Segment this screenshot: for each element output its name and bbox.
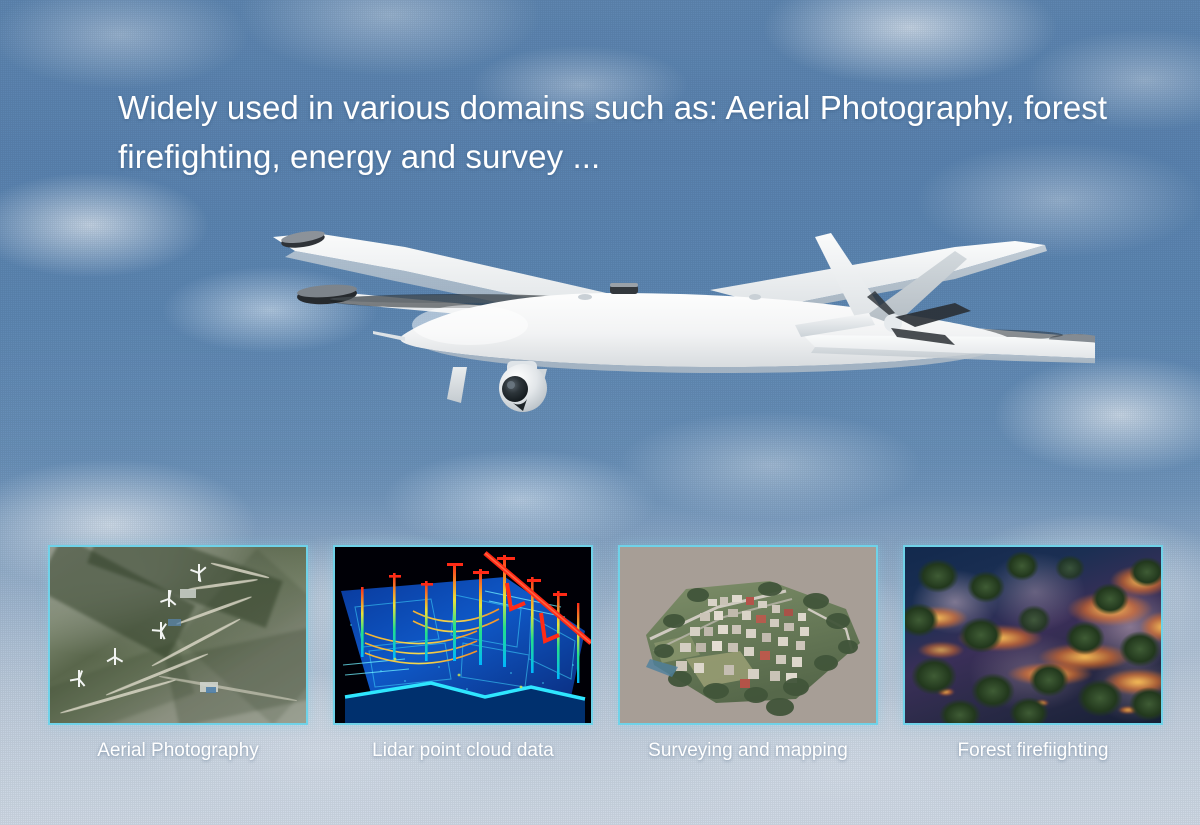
lidar-point-cloud-image bbox=[335, 547, 591, 723]
wind-turbine-icon bbox=[162, 585, 176, 607]
thumbnail-aerial-photography[interactable] bbox=[48, 545, 308, 725]
page-title: Widely used in various domains such as: … bbox=[118, 84, 1148, 182]
gallery-item[interactable]: Aerial Photography bbox=[48, 545, 308, 762]
thumbnail-forest-firefighting[interactable] bbox=[903, 545, 1163, 725]
aerial-mountain-image bbox=[50, 547, 306, 723]
gallery-item[interactable]: Surveying and mapping bbox=[618, 545, 878, 762]
thumbnail-lidar-point-cloud[interactable] bbox=[333, 545, 593, 725]
gallery-item-caption: Forest firefiighting bbox=[903, 740, 1163, 762]
gallery-item-caption: Lidar point cloud data bbox=[333, 740, 593, 762]
gallery-item[interactable]: Lidar point cloud data bbox=[333, 545, 593, 762]
wind-turbine-icon bbox=[108, 643, 122, 665]
thumbnail-surveying-mapping[interactable] bbox=[618, 545, 878, 725]
gallery-item[interactable]: Forest firefiighting bbox=[903, 545, 1163, 762]
wind-turbine-icon bbox=[154, 617, 168, 639]
night-forest-fire-image bbox=[905, 547, 1161, 723]
gallery-item-caption: Aerial Photography bbox=[48, 740, 308, 762]
application-gallery: Aerial Photography bbox=[0, 545, 1200, 795]
gallery-item-caption: Surveying and mapping bbox=[618, 740, 878, 762]
wind-turbine-icon bbox=[72, 665, 86, 687]
drone-aircraft-icon bbox=[255, 185, 1095, 435]
3d-mesh-village-image bbox=[620, 547, 876, 723]
wind-turbine-icon bbox=[192, 559, 206, 581]
